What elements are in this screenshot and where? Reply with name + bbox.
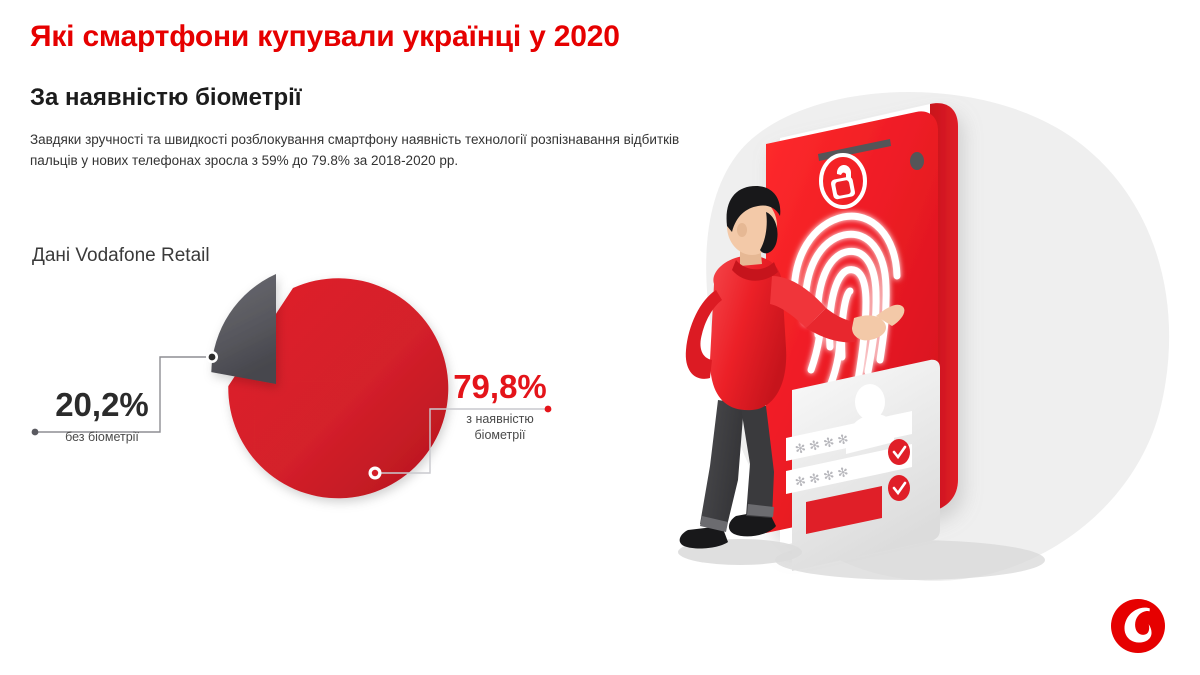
callout-right-label-line2: біометрії [440, 428, 560, 444]
section-subtitle: За наявністю біометрії [30, 84, 302, 112]
callout-left-label: без біометрії [52, 430, 152, 446]
infographic-canvas: Які смартфони купували українці у 2020 З… [0, 0, 1200, 675]
callout-right-label: з наявністю біометрії [440, 412, 560, 443]
callout-with-biometrics: 79,8% з наявністю біометрії [440, 370, 560, 443]
hero-illustration: ✻ ✻ ✻ ✻ ✻ ✻ ✻ ✻ [640, 60, 1200, 620]
page-title: Які смартфони купували українці у 2020 [30, 20, 620, 54]
phone-camera-dot [910, 152, 924, 170]
callout-right-label-line1: з наявністю [440, 412, 560, 428]
body-paragraph: Завдяки зручності та швидкості розблокув… [30, 130, 690, 172]
logo-circle [1111, 599, 1165, 653]
check-badge-icon-2 [888, 475, 910, 501]
vodafone-speechmark-logo[interactable] [1108, 596, 1168, 656]
leg-back [700, 400, 744, 530]
callout-without-biometrics: 20,2% без біометрії [52, 388, 152, 446]
pie-marker-left [209, 354, 216, 361]
ear [737, 223, 747, 237]
logo-svg [1108, 596, 1168, 656]
check-badge-icon [888, 439, 910, 465]
callout-endpoint-left [32, 429, 39, 436]
callout-left-value: 20,2% [52, 388, 152, 421]
pie-slice-without-biometrics[interactable] [211, 274, 276, 384]
illustration-svg: ✻ ✻ ✻ ✻ ✻ ✻ ✻ ✻ [640, 60, 1200, 620]
pie-chart: 20,2% без біометрії 79,8% з наявністю бі… [0, 260, 640, 560]
callout-right-value: 79,8% [440, 370, 560, 403]
login-card[interactable]: ✻ ✻ ✻ ✻ ✻ ✻ ✻ ✻ [786, 360, 940, 571]
pie-marker-right [372, 470, 378, 476]
